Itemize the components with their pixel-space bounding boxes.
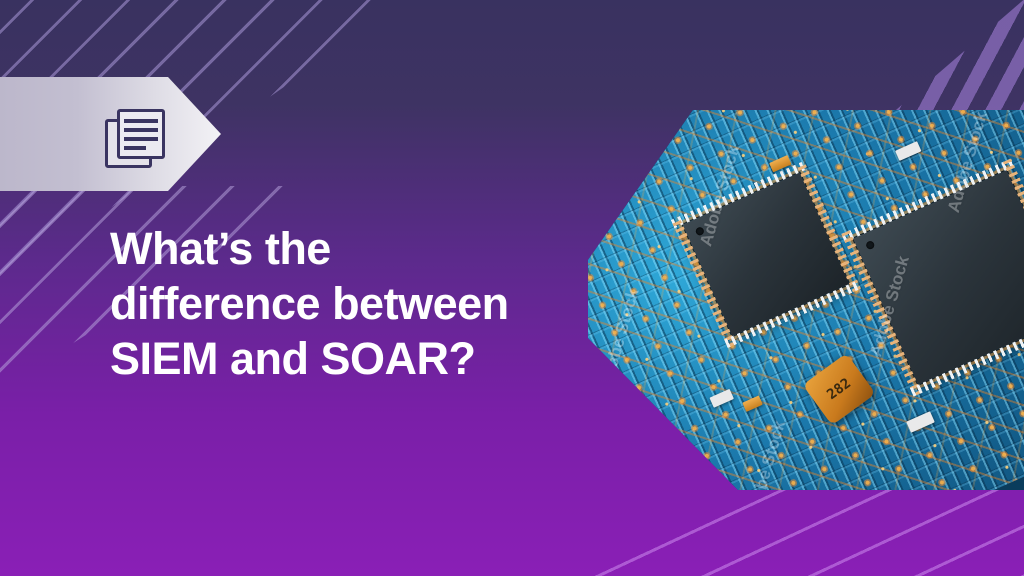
promo-banner: 282 Adobe Stock Adobe Stock Adobe Stock … [0, 0, 1024, 576]
watermark-text: Adobe Stock [944, 110, 992, 215]
documents-icon [104, 106, 168, 174]
headline-line: SIEM and SOAR? [110, 332, 610, 387]
headline-line: What’s the [110, 222, 610, 277]
page-title: What’s the difference between SIEM and S… [110, 222, 610, 387]
watermark-layer: Adobe Stock Adobe Stock Adobe Stock Adob… [588, 110, 1024, 490]
watermark-text: Adobe Stock [742, 418, 790, 490]
pcb-artwork: 282 Adobe Stock Adobe Stock Adobe Stock … [588, 110, 1024, 490]
circuit-board-photo: 282 Adobe Stock Adobe Stock Adobe Stock … [588, 110, 1024, 490]
watermark-text: Adobe Stock [866, 254, 914, 359]
headline-line: difference between [110, 277, 610, 332]
watermark-text: Adobe Stock [696, 143, 744, 248]
